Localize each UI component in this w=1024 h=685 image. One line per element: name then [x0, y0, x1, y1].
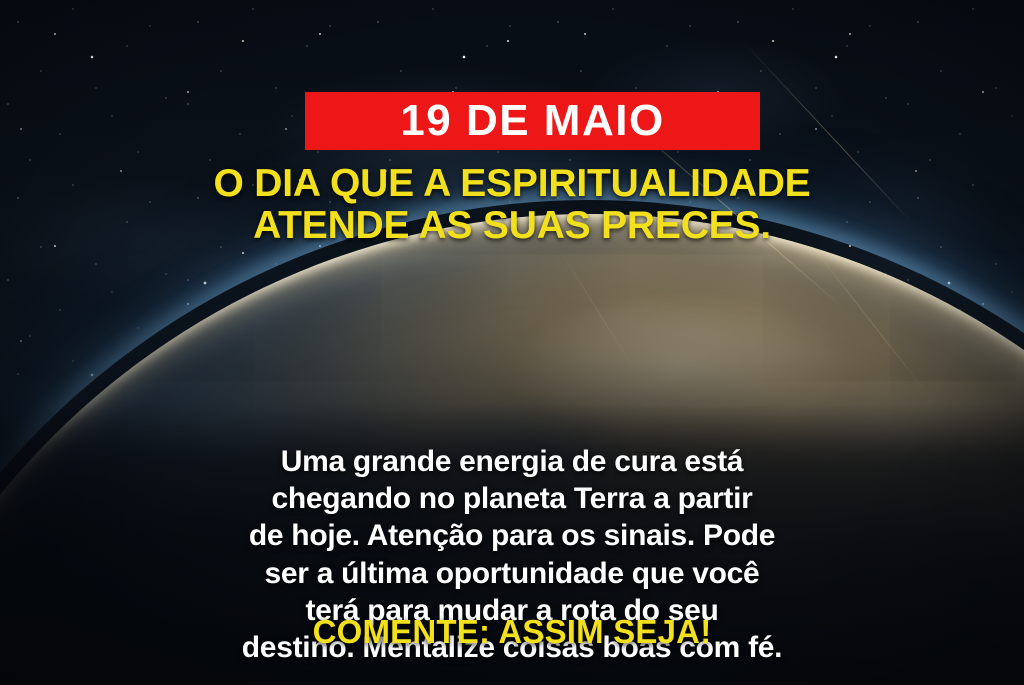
headline: O DIA QUE A ESPIRITUALIDADE ATENDE AS SU… [0, 163, 1024, 247]
body-copy-line-2: chegando no planeta Terra a partir [52, 480, 972, 517]
date-banner-text: 19 DE MAIO [400, 99, 664, 143]
body-copy-line-3: de hoje. Atenção para os sinais. Pode [52, 517, 972, 554]
call-to-action: COMENTE: ASSIM SEJA! [0, 614, 1024, 650]
body-copy-line-4: ser a última oportunidade que você [52, 555, 972, 592]
call-to-action-text: COMENTE: ASSIM SEJA! [313, 613, 712, 650]
poster-canvas: 19 DE MAIO O DIA QUE A ESPIRITUALIDADE A… [0, 0, 1024, 685]
body-copy-line-1: Uma grande energia de cura está [52, 443, 972, 480]
poster-content: 19 DE MAIO O DIA QUE A ESPIRITUALIDADE A… [0, 0, 1024, 685]
headline-line-2: ATENDE AS SUAS PRECES. [0, 205, 1024, 247]
headline-line-1: O DIA QUE A ESPIRITUALIDADE [0, 163, 1024, 205]
date-banner: 19 DE MAIO [305, 92, 760, 150]
